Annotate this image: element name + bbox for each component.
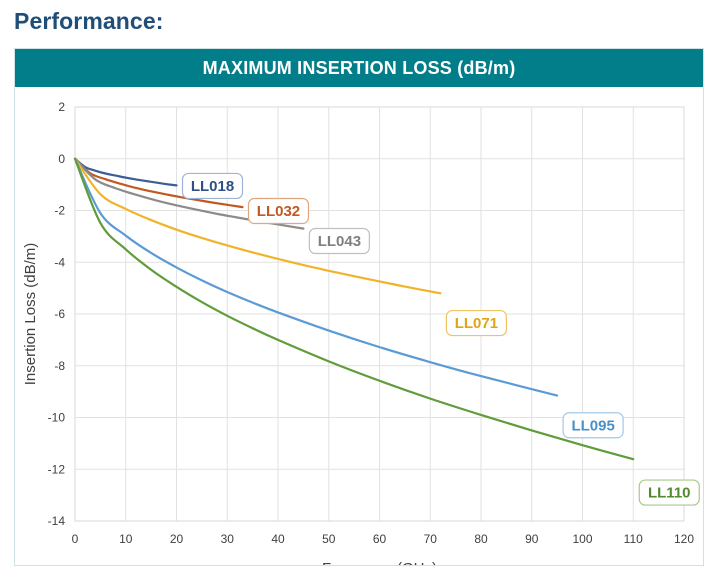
y-tick-label: -4	[54, 255, 65, 269]
data-label-ll110: LL110	[639, 480, 699, 505]
data-label-ll095: LL095	[563, 413, 623, 438]
chart-card-title: MAXIMUM INSERTION LOSS (dB/m)	[203, 58, 516, 79]
data-label-ll032: LL032	[248, 199, 308, 224]
data-label-ll018: LL018	[183, 173, 243, 198]
y-tick-label: -6	[54, 307, 65, 321]
x-tick-label: 20	[170, 532, 184, 546]
chart-plot-area: 20-2-4-6-8-10-12-14010203040506070809010…	[15, 87, 703, 565]
data-label-text: LL032	[257, 203, 300, 220]
data-label-text: LL071	[455, 315, 498, 332]
chart-card: MAXIMUM INSERTION LOSS (dB/m) 20-2-4-6-8…	[14, 48, 704, 566]
data-label-ll043: LL043	[309, 229, 369, 254]
y-tick-label: 0	[58, 152, 65, 166]
x-tick-label: 90	[525, 532, 539, 546]
x-tick-label: 0	[72, 532, 79, 546]
y-tick-label: -8	[54, 359, 65, 373]
insertion-loss-line-chart: 20-2-4-6-8-10-12-14010203040506070809010…	[15, 87, 703, 565]
y-tick-label: -10	[48, 411, 66, 425]
y-tick-label: -12	[48, 462, 66, 476]
x-tick-label: 100	[572, 532, 592, 546]
y-tick-label: -2	[54, 204, 65, 218]
data-label-text: LL110	[648, 485, 691, 502]
series-line-ll110	[75, 159, 633, 459]
x-tick-label: 110	[624, 532, 643, 546]
x-tick-label: 50	[322, 532, 336, 546]
x-tick-label: 30	[221, 532, 235, 546]
x-tick-label: 120	[674, 532, 694, 546]
data-label-ll071: LL071	[446, 311, 506, 336]
y-tick-label: -14	[48, 514, 66, 528]
x-tick-label: 60	[373, 532, 387, 546]
y-axis-title: Insertion Loss (dB/m)	[22, 243, 39, 386]
page-title: Performance:	[14, 8, 163, 35]
data-label-text: LL018	[191, 178, 234, 195]
x-tick-label: 80	[474, 532, 488, 546]
y-tick-label: 2	[58, 100, 65, 114]
x-tick-label: 70	[424, 532, 438, 546]
chart-card-header: MAXIMUM INSERTION LOSS (dB/m)	[15, 49, 703, 87]
x-axis-title: Frequency (GHz)	[322, 560, 437, 565]
series-line-ll095	[75, 159, 557, 396]
x-tick-label: 10	[119, 532, 133, 546]
data-label-text: LL043	[318, 233, 361, 250]
data-label-text: LL095	[571, 417, 614, 434]
x-tick-label: 40	[271, 532, 285, 546]
